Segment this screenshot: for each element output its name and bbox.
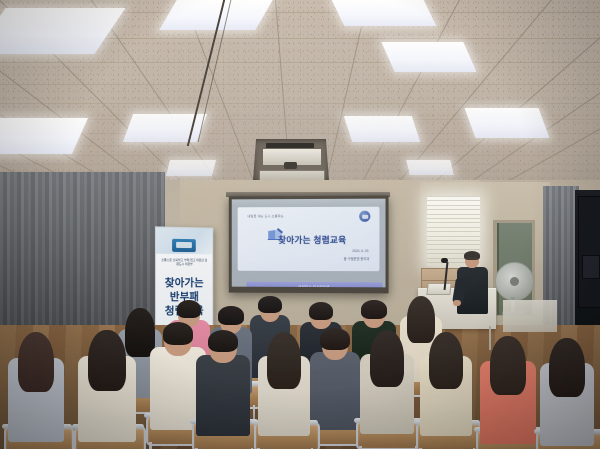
microphone-icon [441, 258, 448, 263]
blind-slat [427, 214, 480, 215]
slide-org-line: 중·구청운영 총무과 [344, 256, 370, 261]
audience-member [480, 336, 536, 449]
blind-slat [427, 244, 480, 245]
ceiling-light-panel [344, 116, 420, 142]
blind-slat [427, 200, 480, 201]
banner-line-1: 찾아가는 [156, 276, 212, 290]
audience-hair [370, 330, 404, 387]
slide-date: 2024. 6. 20. [352, 249, 369, 253]
audience-hair [309, 302, 333, 320]
presenter-glasses [466, 258, 478, 261]
ceiling-grid-row [0, 84, 600, 85]
ceiling-light-panel [332, 0, 437, 26]
audience-hair [88, 330, 125, 391]
slide-footer-bar: 의정부시 감사담당관 [247, 282, 383, 288]
blind-slat [427, 236, 480, 237]
blind-slat [427, 227, 480, 228]
audience-hair [429, 332, 463, 389]
audience-hair [18, 332, 55, 392]
presentation-slide: 내일을 여는 도시 소통하는 찾아가는 청렴교육 2024. 6. 20. 중·… [238, 207, 380, 271]
ceiling-grid-row [0, 103, 600, 104]
ceiling-light-panel [381, 42, 476, 72]
projector-lens [284, 162, 297, 169]
audience-hair [208, 330, 238, 352]
ceiling-light-panel [465, 108, 550, 138]
slide-footer-text: 의정부시 감사담당관 [298, 283, 330, 287]
presenter-speaking [456, 252, 489, 314]
city-emblem-logo [359, 211, 370, 222]
audience-member [8, 332, 64, 449]
audience-hair [267, 332, 301, 389]
wall-mounted-av-speaker [578, 196, 600, 308]
audience-torso [310, 352, 360, 430]
audience-member [196, 330, 250, 442]
banner-header [156, 227, 212, 254]
presenter-hand [453, 300, 461, 306]
ceiling-light-panel [406, 160, 453, 175]
electric-fan [495, 262, 535, 304]
projection-screen: 내일을 여는 도시 소통하는 찾아가는 청렴교육 2024. 6. 20. 중·… [229, 196, 389, 294]
audience-hair [320, 328, 349, 350]
blind-slat [427, 222, 480, 223]
audience-member [310, 328, 360, 436]
audience-hair [549, 338, 585, 397]
screen-surface: 내일을 여는 도시 소통하는 찾아가는 청렴교육 2024. 6. 20. 중·… [232, 199, 386, 288]
audience-member [78, 330, 136, 449]
blind-slat [427, 205, 480, 206]
banner-subtitle: 소통으로 신뢰받고 부패 없고 따뜻한 청렴도시 의정부 [160, 258, 208, 267]
audience-member [540, 338, 594, 449]
speaker-grill [582, 255, 600, 279]
blind-slat [427, 249, 480, 250]
audience-hair [361, 300, 386, 319]
presenter-laptop[interactable] [426, 283, 451, 295]
audience-torso [196, 355, 250, 436]
audience-member [258, 332, 310, 442]
fan-cage-icon [495, 262, 534, 301]
audience-hair [218, 306, 243, 325]
audience-member [420, 332, 472, 442]
blind-slat [427, 231, 480, 232]
audience-hair [490, 336, 526, 395]
seminar-room-photo: 내일을 여는 도시 소통하는 찾아가는 청렴교육 2024. 6. 20. 중·… [0, 0, 600, 449]
ceiling-light-panel [166, 160, 216, 176]
blind-slat [427, 196, 480, 197]
chair-leg [149, 442, 152, 449]
blind-slat [427, 209, 480, 210]
institute-logo [172, 239, 196, 252]
blind-slat [427, 240, 480, 241]
slide-top-text: 내일을 여는 도시 소통하는 [247, 213, 283, 218]
slide-title: 찾아가는 청렴교육 [278, 234, 374, 246]
ceiling-grid-row [0, 62, 600, 63]
audience-hair [258, 296, 281, 313]
side-folding-table [503, 300, 557, 332]
audience-hair [163, 322, 194, 345]
audience-hair [177, 300, 201, 318]
audience-member [360, 330, 414, 440]
blind-slat [427, 218, 480, 219]
